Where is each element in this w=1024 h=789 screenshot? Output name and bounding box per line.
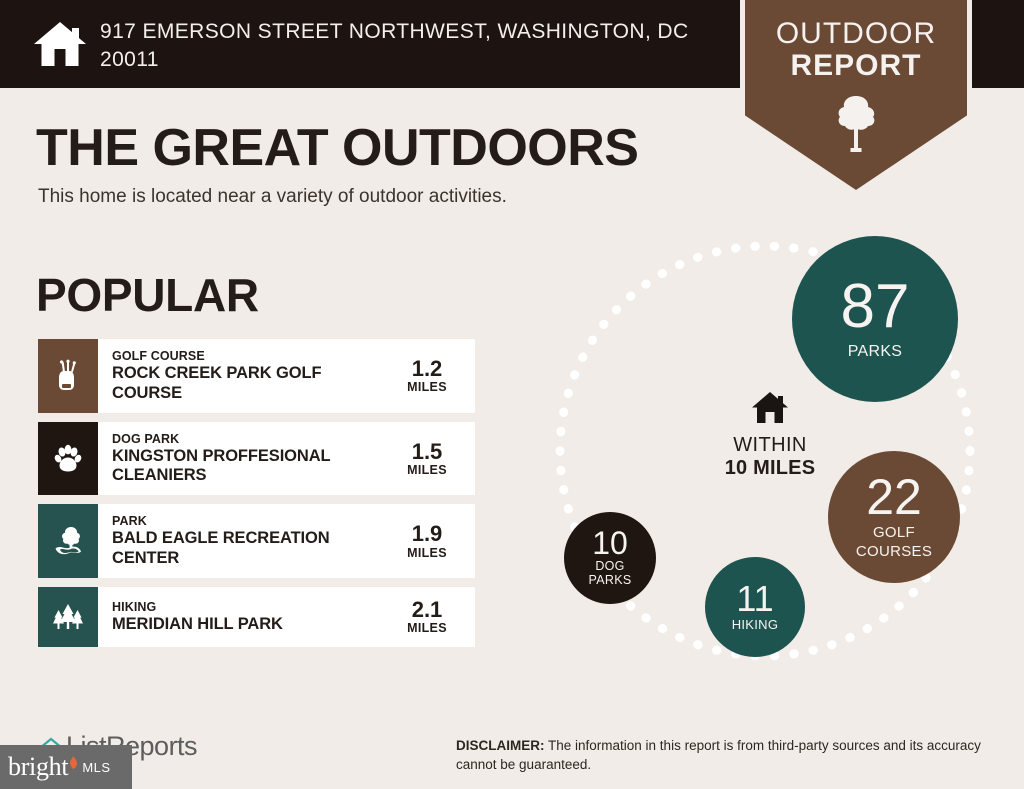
bubble-dogparks-value: 10	[592, 528, 628, 558]
watermark-mls-text: MLS	[82, 760, 110, 775]
poi-distance: 1.2 MILES	[391, 339, 475, 413]
badge-text: OUTDOOR REPORT	[732, 18, 980, 81]
list-item[interactable]: GOLF COURSE ROCK CREEK PARK GOLF COURSE …	[38, 339, 475, 413]
popular-places-list: GOLF COURSE ROCK CREEK PARK GOLF COURSE …	[38, 339, 475, 656]
bubble-hiking-label: HIKING	[732, 618, 779, 632]
poi-distance-value: 2.1	[412, 598, 443, 621]
bubble-hiking[interactable]: 11 HIKING	[705, 557, 805, 657]
bubble-golf-label-line1: GOLF	[873, 525, 915, 541]
poi-distance-value: 1.9	[412, 522, 443, 545]
poi-text: HIKING MERIDIAN HILL PARK	[98, 587, 391, 647]
poi-category: HIKING	[112, 599, 387, 615]
bubble-dogparks-label-line2: PARKS	[589, 574, 632, 588]
bubble-golf-value: 22	[866, 474, 922, 522]
poi-text: DOG PARK KINGSTON PROFFESIONAL CLEANIERS	[98, 422, 391, 496]
orbit-center-line1: WITHIN	[685, 434, 855, 457]
poi-distance-unit: MILES	[407, 463, 447, 477]
bright-mls-watermark: bright MLS	[0, 745, 132, 789]
list-item[interactable]: PARK BALD EAGLE RECREATION CENTER 1.9 MI…	[38, 504, 475, 578]
poi-distance-unit: MILES	[407, 546, 447, 560]
bubble-golf-label-line2: COURSES	[856, 544, 932, 560]
poi-text: PARK BALD EAGLE RECREATION CENTER	[98, 504, 391, 578]
within-10-miles-bubble-chart: 87 PARKS 22 GOLF COURSES 11 HIKING 10 DO…	[515, 215, 1024, 685]
orbit-center-label: WITHIN 10 MILES	[685, 390, 855, 480]
poi-icon-tile	[38, 422, 98, 496]
popular-section-heading: POPULAR	[36, 268, 259, 322]
bubble-hiking-value: 11	[736, 582, 773, 616]
poi-distance-value: 1.5	[412, 440, 443, 463]
bubble-parks-label: PARKS	[848, 343, 903, 360]
outdoor-report-badge: OUTDOOR REPORT	[732, 0, 980, 214]
poi-name: ROCK CREEK PARK GOLF COURSE	[112, 364, 387, 404]
orbit-center-line2: 10 MILES	[685, 457, 855, 480]
badge-title-line1: OUTDOOR	[732, 18, 980, 50]
disclaimer: DISCLAIMER: The information in this repo…	[456, 736, 996, 774]
poi-distance: 1.5 MILES	[391, 422, 475, 496]
page-title: THE GREAT OUTDOORS	[36, 118, 638, 178]
pine-trees-icon	[51, 600, 85, 634]
bubble-parks[interactable]: 87 PARKS	[792, 236, 958, 402]
poi-category: GOLF COURSE	[112, 348, 387, 364]
poi-name: BALD EAGLE RECREATION CENTER	[112, 529, 387, 569]
house-icon	[750, 390, 790, 426]
property-address: 917 EMERSON STREET NORTHWEST, WASHINGTON…	[100, 18, 700, 73]
page-subtitle: This home is located near a variety of o…	[38, 186, 507, 208]
park-tree-path-icon	[51, 524, 85, 558]
list-item[interactable]: HIKING MERIDIAN HILL PARK 2.1 MILES	[38, 587, 475, 647]
poi-icon-tile	[38, 587, 98, 647]
poi-distance: 2.1 MILES	[391, 587, 475, 647]
outdoor-report-page: 917 EMERSON STREET NORTHWEST, WASHINGTON…	[0, 0, 1024, 789]
badge-title-line2: REPORT	[732, 50, 980, 82]
flame-icon	[69, 756, 78, 769]
poi-name: MERIDIAN HILL PARK	[112, 615, 387, 635]
poi-category: DOG PARK	[112, 431, 387, 447]
list-item[interactable]: DOG PARK KINGSTON PROFFESIONAL CLEANIERS…	[38, 422, 475, 496]
golf-bag-icon	[51, 359, 85, 393]
poi-category: PARK	[112, 513, 387, 529]
bubble-parks-value: 87	[841, 278, 910, 337]
watermark-bright-text: bright	[8, 752, 68, 782]
poi-text: GOLF COURSE ROCK CREEK PARK GOLF COURSE	[98, 339, 391, 413]
bubble-dogparks-label-line1: DOG	[595, 560, 624, 574]
paw-print-icon	[51, 441, 85, 475]
poi-icon-tile	[38, 504, 98, 578]
poi-distance-unit: MILES	[407, 621, 447, 635]
house-icon	[32, 16, 88, 72]
tree-icon	[833, 94, 879, 152]
poi-distance-unit: MILES	[407, 380, 447, 394]
bubble-dog-parks[interactable]: 10 DOG PARKS	[564, 512, 656, 604]
disclaimer-label: DISCLAIMER:	[456, 738, 545, 753]
poi-icon-tile	[38, 339, 98, 413]
poi-distance-value: 1.2	[412, 357, 443, 380]
poi-name: KINGSTON PROFFESIONAL CLEANIERS	[112, 447, 387, 487]
poi-distance: 1.9 MILES	[391, 504, 475, 578]
